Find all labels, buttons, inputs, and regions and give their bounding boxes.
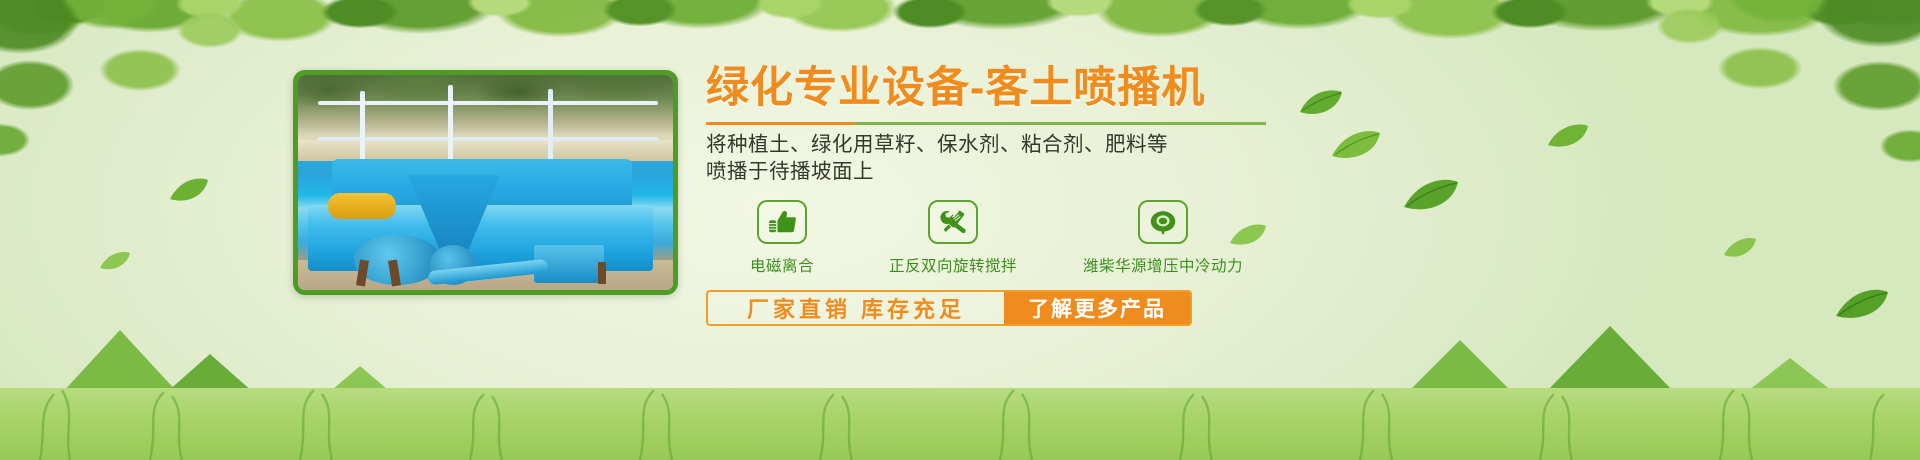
floating-leaf-icon xyxy=(1330,128,1382,162)
product-photo-image xyxy=(298,75,673,290)
photo-railing-horizontal xyxy=(318,101,658,105)
feature-item-bidirectional-mixing[interactable]: 正反双向旋转搅拌 xyxy=(858,200,1048,276)
feature-label: 电磁离合 xyxy=(706,254,858,276)
foliage-top-dark-decoration xyxy=(0,0,1920,70)
banner-subtitle-line-2: 喷播于待播坡面上 xyxy=(706,158,1326,186)
feature-item-electromagnetic-clutch[interactable]: 电磁离合 xyxy=(706,200,858,276)
feature-label: 正反双向旋转搅拌 xyxy=(858,254,1048,276)
leaf-icon xyxy=(1148,208,1178,236)
photo-railing-horizontal xyxy=(318,137,658,141)
feature-icon-box xyxy=(757,200,807,244)
product-photo[interactable] xyxy=(293,70,678,295)
banner-content: 绿化专业设备-客土喷播机 将种植土、绿化用草籽、保水剂、粘合剂、肥料等 喷播于待… xyxy=(706,66,1326,326)
foliage-right-cluster xyxy=(1580,0,1920,206)
grass-blades-decoration xyxy=(0,350,1920,460)
photo-railing-post xyxy=(360,91,365,169)
feature-label: 潍柴华源增压中冷动力 xyxy=(1048,254,1278,276)
promo-banner: 绿化专业设备-客土喷播机 将种植土、绿化用草籽、保水剂、粘合剂、肥料等 喷播于待… xyxy=(0,0,1920,460)
grass-strip xyxy=(0,388,1920,460)
floating-leaf-icon xyxy=(1834,286,1890,322)
banner-headline: 绿化专业设备-客土喷播机 xyxy=(706,66,1326,112)
learn-more-button[interactable]: 了解更多产品 xyxy=(1004,292,1190,324)
photo-railing-post xyxy=(448,85,453,169)
thumbs-up-icon xyxy=(767,208,797,236)
feature-icon-box xyxy=(1138,200,1188,244)
banner-subtitle-line-1: 将种植土、绿化用草籽、保水剂、粘合剂、肥料等 xyxy=(706,131,1326,159)
wrench-screwdriver-icon xyxy=(938,208,968,236)
photo-railing-post xyxy=(548,89,553,169)
photo-machine-support-leg xyxy=(598,262,606,284)
feature-list: 电磁离合 正反双向旋转搅拌 xyxy=(706,200,1326,276)
photo-wall-layer xyxy=(298,140,673,162)
feature-item-weichai-power[interactable]: 潍柴华源增压中冷动力 xyxy=(1048,200,1278,276)
headline-divider xyxy=(706,122,1266,125)
cta-slogan: 厂家直销 库存充足 xyxy=(708,292,1004,324)
foliage-left-cluster xyxy=(0,0,300,190)
floating-leaf-icon xyxy=(168,176,210,204)
floating-leaf-icon xyxy=(1546,122,1590,150)
photo-machine-yellow-part xyxy=(328,193,396,219)
floating-leaf-icon xyxy=(1402,176,1460,214)
feature-icon-box xyxy=(928,200,978,244)
cta-bar: 厂家直销 库存充足 了解更多产品 xyxy=(706,290,1192,326)
floating-leaf-icon xyxy=(1722,236,1758,260)
floating-leaf-icon xyxy=(98,250,132,272)
